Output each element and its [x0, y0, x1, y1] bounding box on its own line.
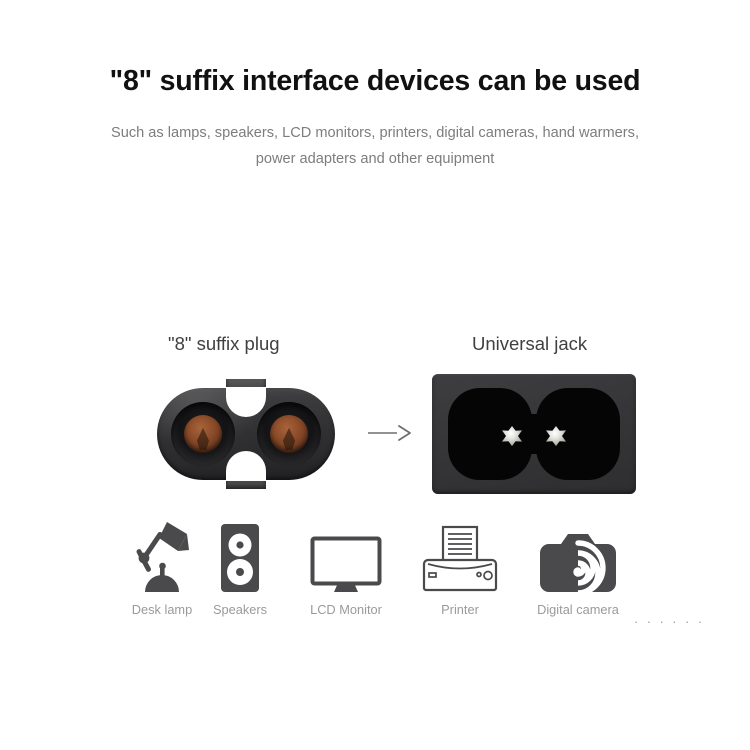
desk-lamp-icon: [112, 516, 212, 594]
infographic-page: "8" suffix interface devices can be used…: [0, 0, 750, 750]
camera-icon: [528, 516, 628, 594]
speaker-icon: [200, 516, 280, 594]
device-item-digital-camera: Digital camera: [528, 516, 628, 617]
page-subtitle: Such as lamps, speakers, LCD monitors, p…: [49, 120, 701, 172]
arrow-right-icon: [366, 424, 414, 442]
monitor-icon: [298, 516, 394, 594]
device-label: Desk lamp: [112, 602, 212, 617]
more-devices-indicator: · · · · · ·: [634, 614, 704, 629]
device-label: Printer: [412, 602, 508, 617]
device-item-speakers: Speakers: [200, 516, 280, 617]
device-item-desk-lamp: Desk lamp: [112, 516, 212, 617]
device-item-lcd-monitor: LCD Monitor: [298, 516, 394, 617]
figure-8-jack-icon: [432, 374, 636, 494]
plug-caption: "8" suffix plug: [168, 333, 280, 355]
device-label: LCD Monitor: [298, 602, 394, 617]
plug-contact-right: [270, 415, 308, 453]
device-item-printer: Printer: [412, 516, 508, 617]
plug-contact-ring-right: [257, 402, 321, 466]
header: "8" suffix interface devices can be used…: [0, 64, 750, 172]
jack-cavity: [448, 388, 620, 480]
plug-contact-ring-left: [171, 402, 235, 466]
device-label: Speakers: [200, 602, 280, 617]
page-title: "8" suffix interface devices can be used: [0, 64, 750, 98]
device-label: Digital camera: [528, 602, 628, 617]
plug-contact-left: [184, 415, 222, 453]
subtitle-line-1: Such as lamps, speakers, LCD monitors, p…: [111, 125, 639, 141]
figure-8-plug-icon: [157, 388, 335, 480]
jack-caption: Universal jack: [472, 333, 587, 355]
subtitle-line-2: power adapters and other equipment: [49, 146, 701, 172]
printer-icon: [412, 516, 508, 594]
